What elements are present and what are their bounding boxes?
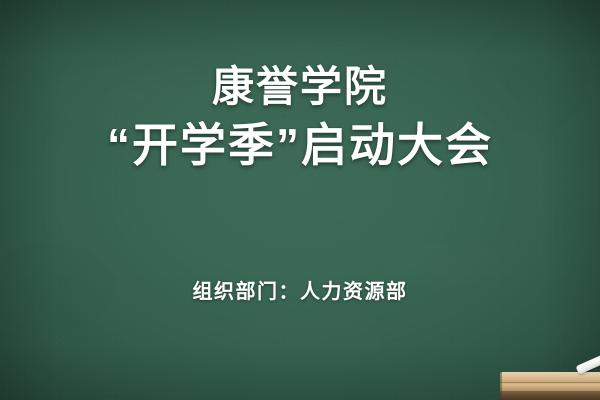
chalk-ledge-face bbox=[500, 377, 600, 391]
title-line-secondary: “开学季”启动大会 bbox=[0, 118, 600, 172]
chalk-ledge-underside-shadow bbox=[500, 391, 600, 400]
subtitle-block: 组织部门：人力资源部 bbox=[0, 275, 600, 304]
chalk-ledge bbox=[500, 372, 600, 400]
chalkboard-title-slide: 康誉学院 “开学季”启动大会 组织部门：人力资源部 bbox=[0, 0, 600, 400]
page-title: 康誉学院 “开学季”启动大会 bbox=[0, 62, 600, 172]
chalk-ledge-left-edge bbox=[500, 372, 502, 400]
title-line-primary: 康誉学院 bbox=[0, 62, 600, 112]
slide-text-layer: 康誉学院 “开学季”启动大会 组织部门：人力资源部 bbox=[0, 0, 600, 400]
chalk-ledge-groove bbox=[500, 382, 600, 383]
organizer-department-subtitle: 组织部门：人力资源部 bbox=[0, 275, 600, 304]
